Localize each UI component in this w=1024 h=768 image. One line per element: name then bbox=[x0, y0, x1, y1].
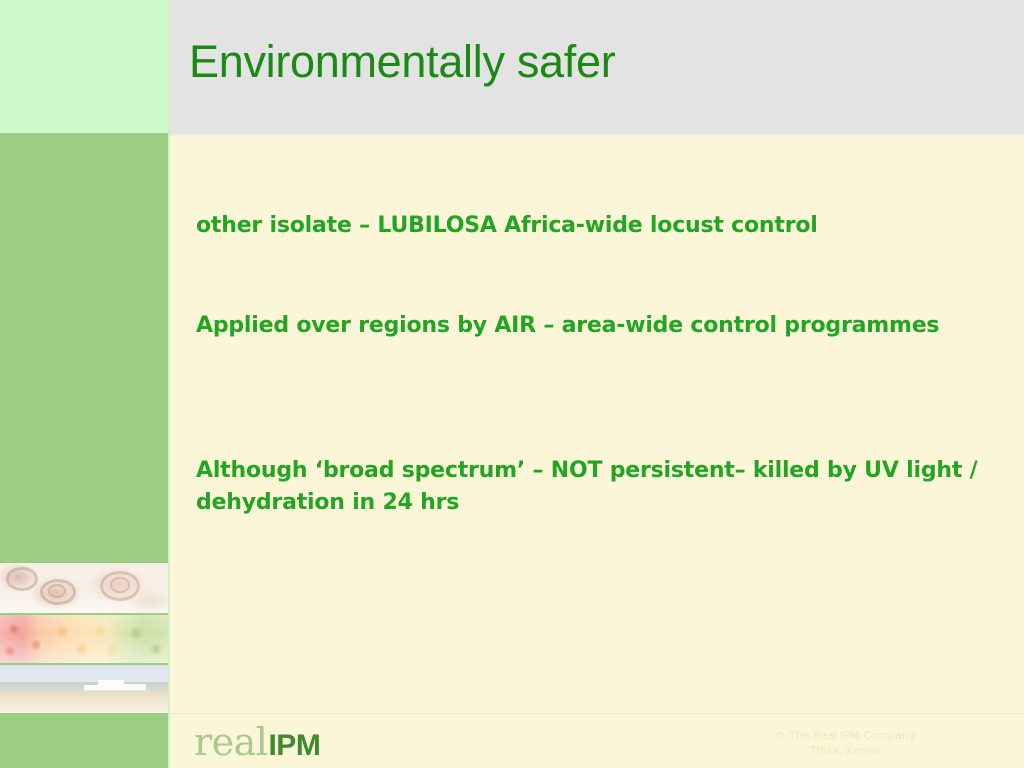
peppers-produce-photo-strip bbox=[0, 615, 168, 663]
body-line-2: Applied over regions by AIR – area-wide … bbox=[196, 310, 986, 342]
footer-divider bbox=[170, 713, 1024, 714]
real-ipm-logo: realIPM bbox=[194, 722, 320, 762]
body-line-1: other isolate – LUBILOSA Africa-wide loc… bbox=[196, 210, 986, 242]
rose-swirl-icon bbox=[110, 577, 130, 593]
peppers-photo-image bbox=[0, 615, 168, 663]
sidebar-divider bbox=[168, 0, 170, 768]
rose-swirl-icon bbox=[6, 567, 38, 591]
header-underline bbox=[170, 134, 1024, 136]
rose-swirl-icon bbox=[48, 584, 66, 598]
roses-photo-strip bbox=[0, 563, 168, 613]
logo-word-real: real bbox=[194, 720, 267, 764]
presentation-slide: Environmentally safer other isolate – LU… bbox=[0, 0, 1024, 768]
copyright-notice: © The Real IPM Company Thika, Kenya bbox=[745, 728, 945, 758]
body-line-3: Although ‘broad spectrum’ – NOT persiste… bbox=[196, 455, 986, 519]
slide-title: Environmentally safer bbox=[189, 34, 989, 90]
farm-field-photo-image bbox=[0, 665, 168, 713]
logo-word-ipm: IPM bbox=[268, 729, 320, 762]
peppers-photo-overlay bbox=[0, 615, 168, 663]
field-haze-overlay bbox=[0, 665, 168, 713]
roses-photo-image bbox=[0, 563, 168, 613]
sidebar-top-mint-block bbox=[0, 0, 170, 133]
copyright-line-company: © The Real IPM Company bbox=[745, 728, 945, 743]
farm-field-photo-strip bbox=[0, 665, 168, 713]
copyright-line-location: Thika, Kenya bbox=[745, 743, 945, 758]
